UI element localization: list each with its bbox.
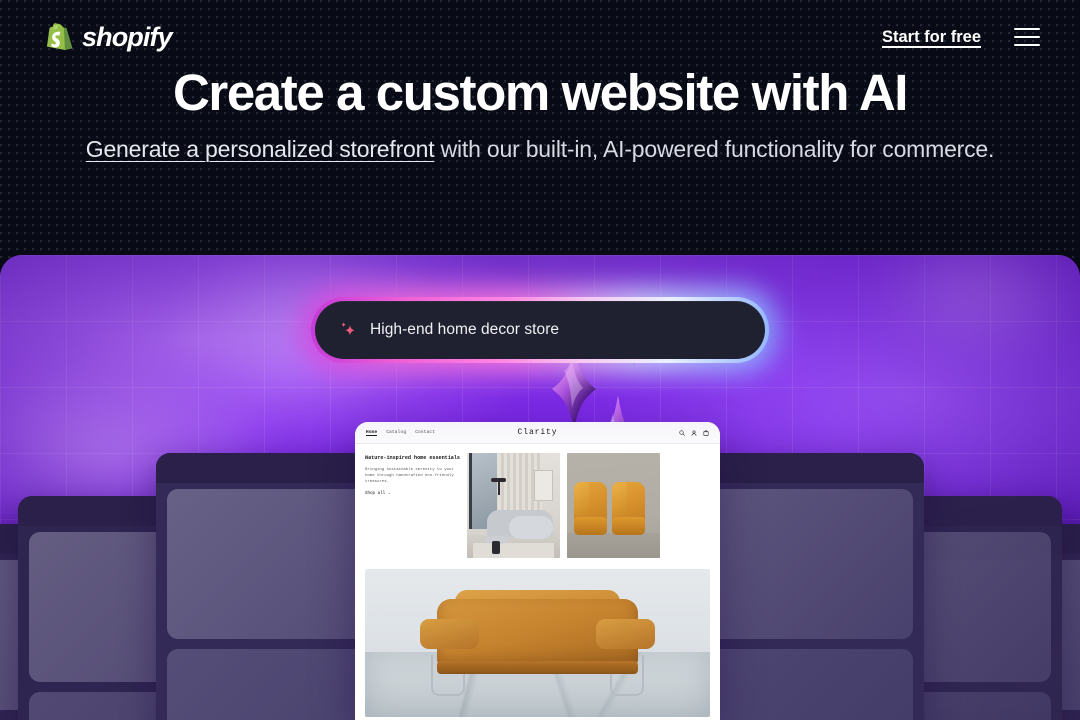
storefront-nav-item[interactable]: Catalog [386, 430, 406, 435]
storefront-nav-item[interactable]: Home [366, 430, 377, 436]
ai-sparkle-icon [338, 321, 357, 340]
prompt-value: High-end home decor store [370, 321, 559, 339]
top-navigation-bar: shopify Start for free [0, 0, 1080, 74]
storefront-copy-block: Nature-inspired home essentials Bringing… [365, 453, 460, 558]
tan-leather-armchair-image[interactable] [365, 569, 710, 717]
search-icon[interactable] [679, 430, 685, 436]
storefront-image-row [467, 453, 660, 558]
page-subtitle-rest: with our built-in, AI-powered functional… [434, 136, 994, 162]
storefront-shop-all-link[interactable]: Shop all → [365, 492, 460, 496]
prompt-input-field[interactable]: High-end home decor store [315, 301, 765, 359]
shopify-ai-website-landing: shopify Start for free Create a custom w… [0, 0, 1080, 720]
shopify-bag-icon [44, 21, 73, 54]
generate-storefront-link[interactable]: Generate a personalized storefront [86, 136, 435, 162]
account-icon[interactable] [691, 430, 697, 436]
storefront-heading: Nature-inspired home essentials [365, 455, 460, 463]
cart-icon[interactable] [703, 430, 709, 436]
hero-dark-section: shopify Start for free Create a custom w… [0, 0, 1080, 258]
page-subtitle: Generate a personalized storefront with … [0, 134, 1080, 166]
storefront-header-icons [679, 430, 709, 436]
shopify-logo[interactable]: shopify [44, 21, 172, 54]
storefront-nav: Home Catalog Contact [366, 430, 435, 436]
storefront-preview[interactable]: Home Catalog Contact Clarity Nature-insp… [355, 422, 720, 720]
storefront-body-text: Bringing sustainable serenity to your ho… [365, 467, 460, 486]
storefront-hero-row: Nature-inspired home essentials Bringing… [355, 444, 720, 558]
shopify-wordmark: shopify [82, 22, 172, 53]
storefront-header: Home Catalog Contact Clarity [355, 422, 720, 444]
living-room-interior-image[interactable] [467, 453, 560, 558]
page-title: Create a custom website with AI [0, 66, 1080, 121]
nav-actions: Start for free [882, 28, 1040, 47]
ai-prompt-bar[interactable]: High-end home decor store [311, 297, 769, 363]
start-for-free-link[interactable]: Start for free [882, 28, 981, 47]
storefront-nav-item[interactable]: Contact [415, 430, 435, 435]
hamburger-menu-icon[interactable] [1014, 28, 1040, 46]
mustard-lounge-chairs-image[interactable] [567, 453, 660, 558]
